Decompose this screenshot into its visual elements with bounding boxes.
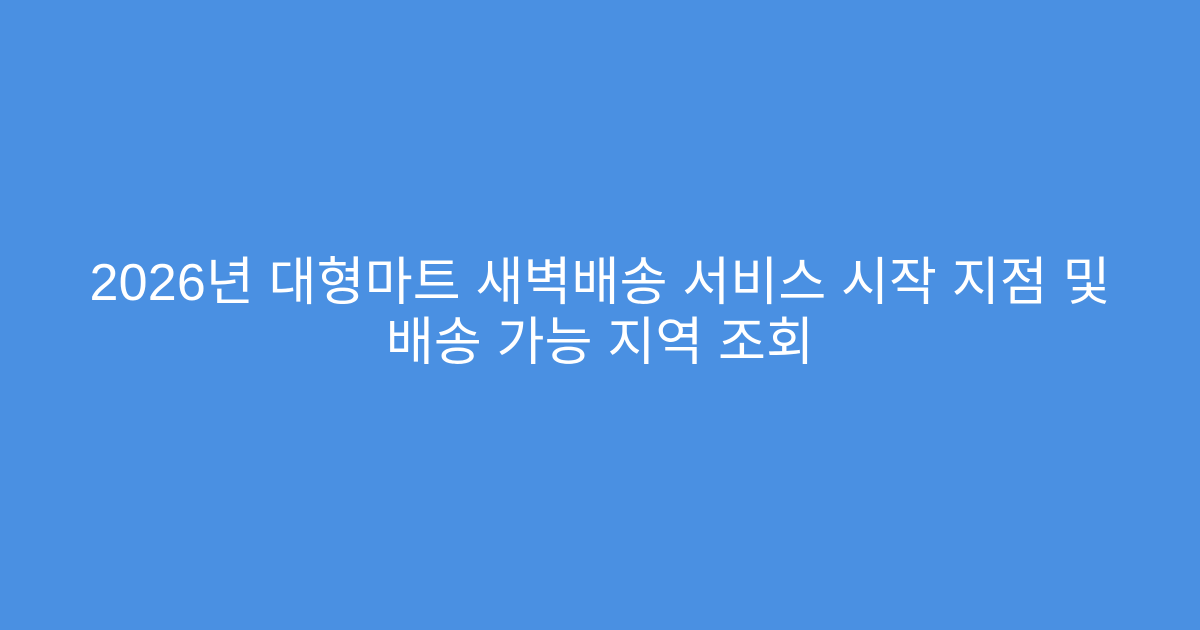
page-title: 2026년 대형마트 새벽배송 서비스 시작 지점 및 배송 가능 지역 조회	[80, 253, 1120, 374]
title-block: 2026년 대형마트 새벽배송 서비스 시작 지점 및 배송 가능 지역 조회	[80, 253, 1120, 374]
og-share-card: 2026년 대형마트 새벽배송 서비스 시작 지점 및 배송 가능 지역 조회	[0, 0, 1200, 630]
